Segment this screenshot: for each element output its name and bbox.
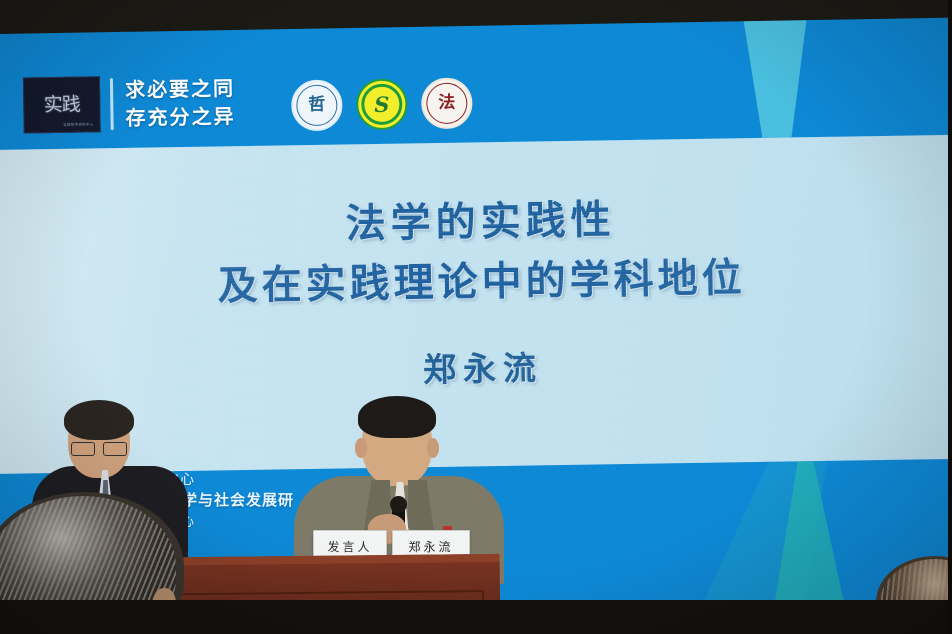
society-logo: S	[356, 78, 408, 130]
room-right-edge	[948, 0, 952, 634]
org-seal-logo: 实践 实践哲学研究中心	[23, 76, 101, 133]
slide-title-block: 法学的实践性 及在实践理论中的学科地位 郑永流	[0, 185, 952, 398]
philosophy-institute-logo: 哲	[291, 79, 343, 131]
law-school-logo: 法	[421, 77, 473, 129]
microphone-head	[390, 496, 407, 513]
moderator-glasses	[71, 442, 127, 454]
moderator-hair	[64, 400, 134, 440]
screenshot-canvas: 实践 实践哲学研究中心 求必要之同 存充分之异 哲 S 法	[0, 0, 952, 634]
slogan-line-2: 存充分之异	[125, 103, 235, 133]
header-logo-row: 哲 S 法	[291, 77, 473, 131]
speaker-hair	[358, 396, 436, 438]
header-slogan: 求必要之同 存充分之异	[125, 74, 236, 133]
philosophy-institute-logo-character: 哲	[308, 97, 325, 114]
speaker-ear-right	[427, 438, 439, 458]
banner-accent-wedge	[742, 9, 810, 138]
law-school-logo-character: 法	[438, 95, 455, 112]
slide-speaker-name: 郑永流	[0, 335, 952, 398]
org-seal-glyphs: 实践	[44, 95, 80, 115]
org-seal-subtitle: 实践哲学研究中心	[63, 121, 93, 126]
slogan-line-1: 求必要之同	[125, 74, 235, 104]
speaker-ear-left	[355, 438, 367, 458]
room-foreground-shadow	[0, 600, 952, 634]
society-logo-character: S	[374, 94, 389, 115]
